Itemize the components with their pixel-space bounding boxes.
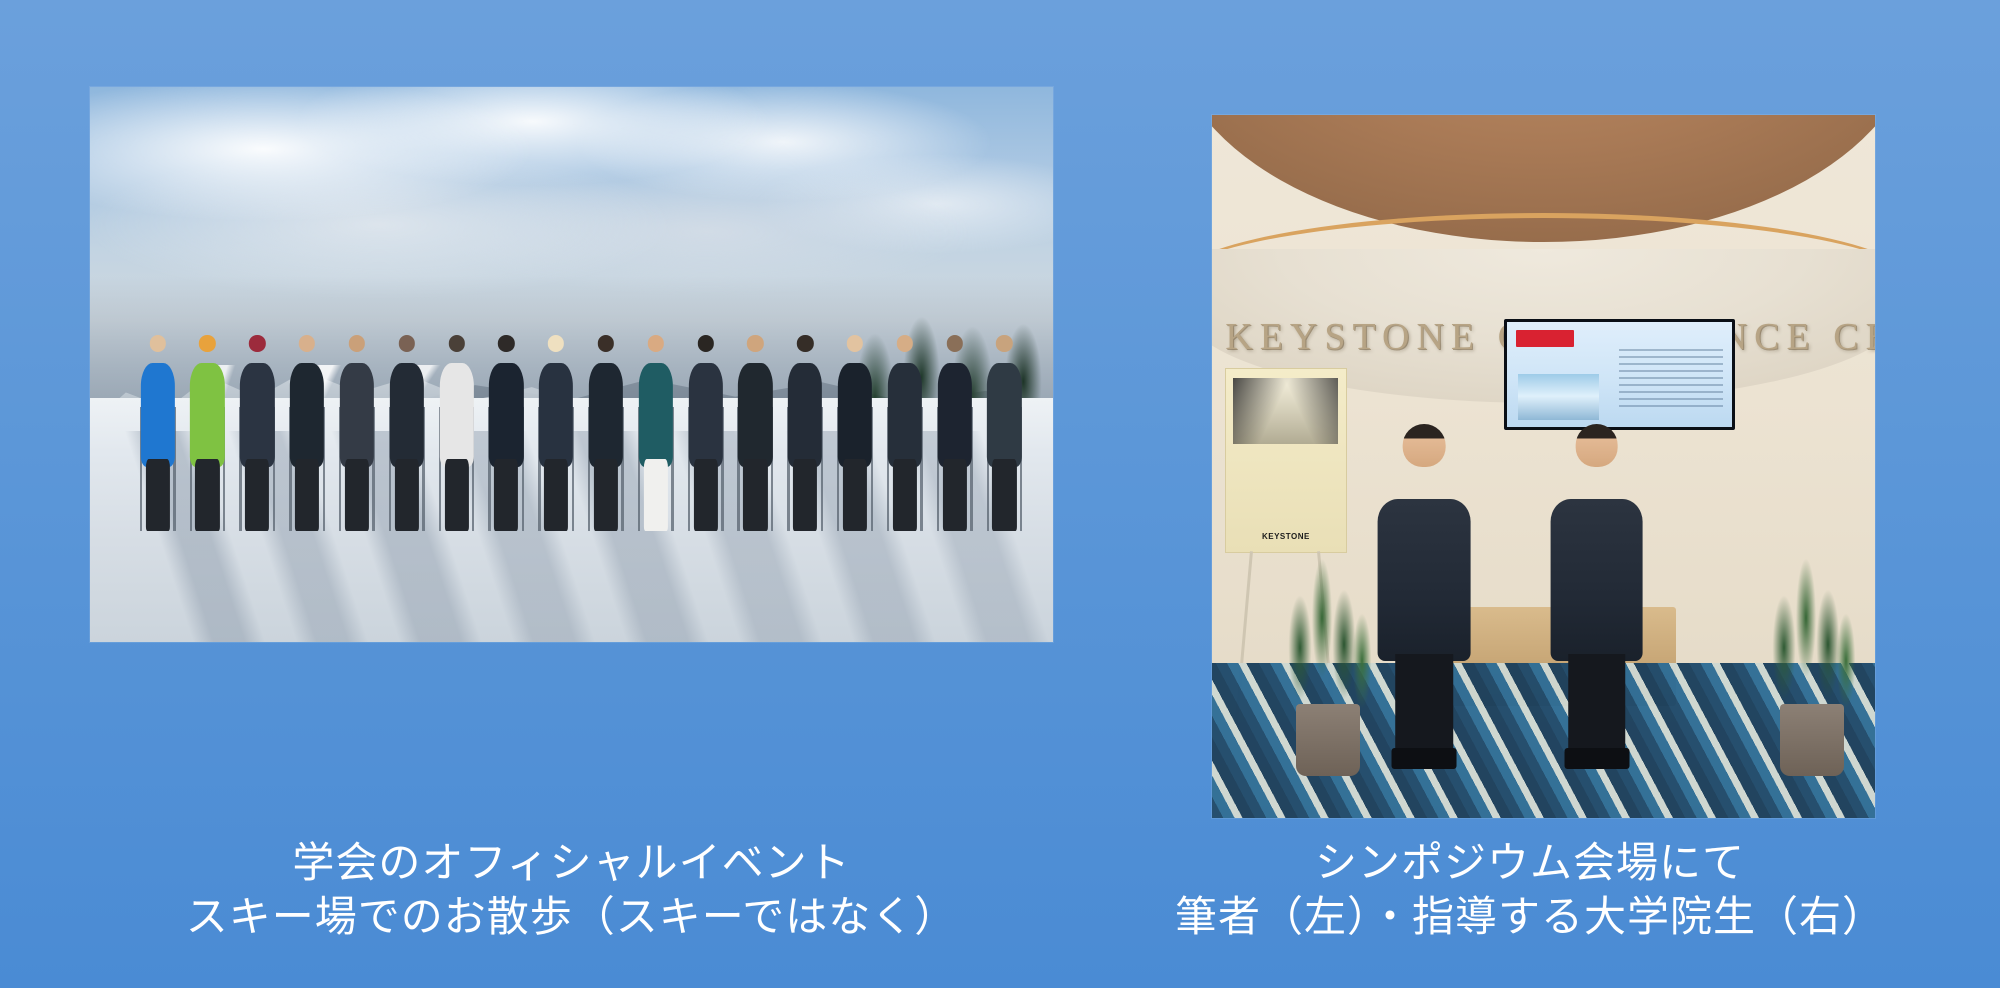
- skier-person: [138, 331, 177, 531]
- skier-person: [786, 331, 825, 531]
- caption-lobby-line1: シンポジウム会場にて: [1080, 838, 1980, 892]
- skier-person: [337, 331, 376, 531]
- person-author: [1378, 424, 1471, 761]
- screen-keystone-badge: [1516, 330, 1575, 347]
- conference-lobby-photo: KEYSTONE CONFERENCE CENTER KEYSTONE: [1212, 115, 1875, 818]
- ski-group-people: [138, 331, 1024, 531]
- screen-resort-photo: [1518, 374, 1599, 420]
- skier-person: [437, 331, 476, 531]
- potted-plant-left: [1278, 565, 1377, 776]
- slide-canvas: KEYSTONE CONFERENCE CENTER KEYSTONE 学会のオ…: [0, 0, 2000, 988]
- skier-person: [885, 331, 924, 531]
- skier-person: [836, 331, 875, 531]
- easel-poster: KEYSTONE: [1225, 368, 1346, 553]
- skier-person: [387, 331, 426, 531]
- caption-ski-line2: スキー場でのお散歩（スキーではなく）: [90, 892, 1053, 946]
- skier-person: [487, 331, 526, 531]
- skier-person: [288, 331, 327, 531]
- person-graduate-student: [1550, 424, 1643, 761]
- skier-person: [636, 331, 675, 531]
- keystone-logo-text: KEYSTONE: [1226, 532, 1345, 541]
- screen-schedule-rows: [1619, 349, 1723, 410]
- skier-person: [985, 331, 1024, 531]
- skier-person: [686, 331, 725, 531]
- lobby-track-lights: [1252, 136, 1835, 220]
- caption-ski-line1: 学会のオフィシャルイベント: [90, 838, 1053, 892]
- caption-lobby-photo: シンポジウム会場にて 筆者（左）・指導する大学院生（右）: [1080, 838, 1980, 946]
- skier-person: [586, 331, 625, 531]
- skier-person: [935, 331, 974, 531]
- potted-plant-right: [1762, 565, 1861, 776]
- caption-ski-photo: 学会のオフィシャルイベント スキー場でのお散歩（スキーではなく）: [90, 838, 1053, 946]
- digital-signage-screen: [1504, 319, 1735, 430]
- skier-person: [188, 331, 227, 531]
- skier-person: [736, 331, 775, 531]
- skier-person: [537, 331, 576, 531]
- caption-lobby-line2: 筆者（左）・指導する大学院生（右）: [1080, 892, 1980, 946]
- lodge-sketch-image: [1233, 378, 1338, 444]
- ski-group-photo: [90, 87, 1053, 642]
- skier-person: [238, 331, 277, 531]
